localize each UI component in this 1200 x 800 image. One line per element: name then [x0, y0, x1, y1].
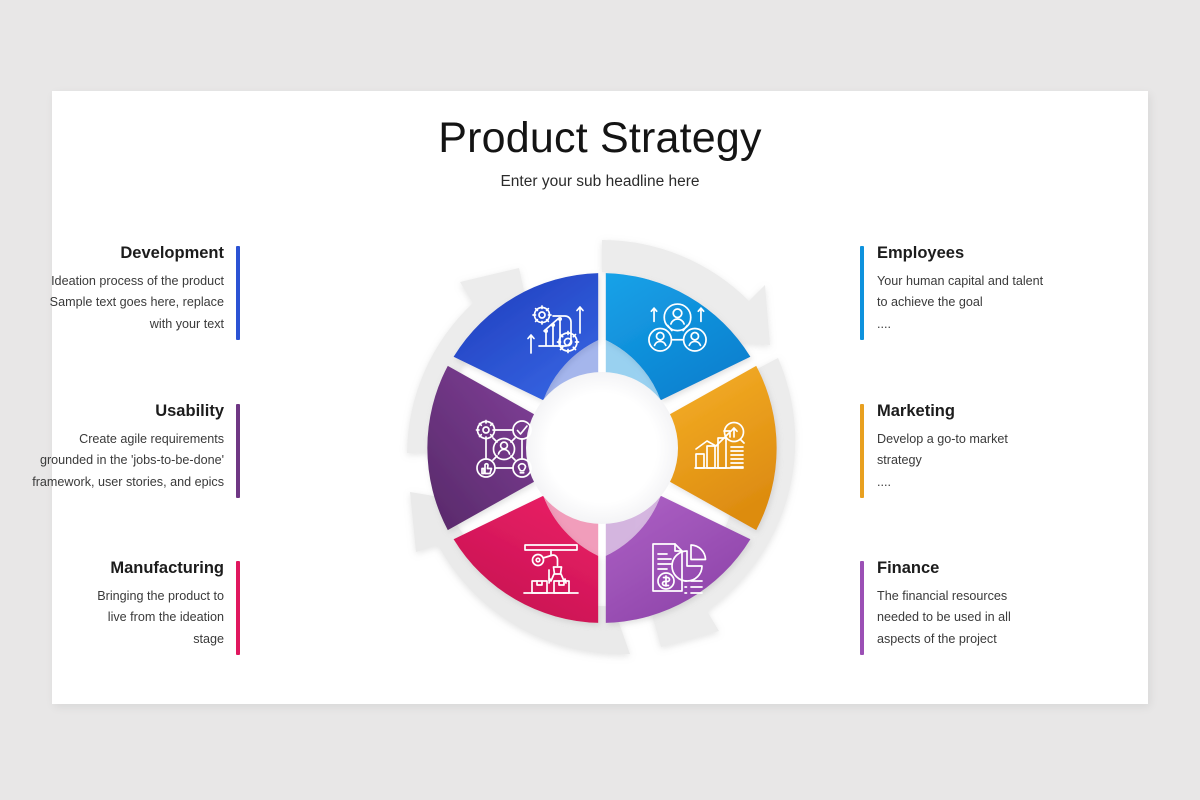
legend-line: framework, user stories, and epics — [10, 472, 224, 494]
segment-marketing[interactable] — [669, 366, 776, 530]
legend-line: Your human capital and talent — [877, 271, 1090, 293]
legend-line: Create agile requirements — [10, 429, 224, 451]
legend-line: Bringing the product to — [10, 586, 224, 608]
legend-line: Ideation process of the product — [10, 271, 224, 293]
legend-line: live from the ideation — [10, 607, 224, 629]
legend-line: Sample text goes here, replace — [10, 292, 224, 314]
accent-bar-manufacturing — [236, 561, 240, 655]
accent-bar-marketing — [860, 404, 864, 498]
legend-line: strategy — [877, 450, 1090, 472]
page-title: Product Strategy — [52, 114, 1148, 163]
cycle-diagram — [377, 223, 827, 673]
legend-line: .... — [877, 472, 1090, 494]
legend-title-marketing: Marketing — [877, 402, 1090, 422]
slide-canvas: Product Strategy Enter your sub headline… — [52, 91, 1148, 704]
legend-item-marketing[interactable]: Marketing Develop a go-to market strateg… — [860, 402, 1090, 494]
page-subtitle: Enter your sub headline here — [52, 173, 1148, 191]
legend-title-development: Development — [10, 244, 224, 264]
legend-line: with your text — [10, 314, 224, 336]
legend-title-finance: Finance — [877, 559, 1090, 579]
legend-line: aspects of the project — [877, 629, 1090, 651]
legend-line: grounded in the 'jobs-to-be-done' — [10, 450, 224, 472]
legend-item-finance[interactable]: Finance The financial resources needed t… — [860, 559, 1090, 651]
legend-line: .... — [877, 314, 1090, 336]
accent-bar-development — [236, 246, 240, 340]
legend-item-manufacturing[interactable]: Manufacturing Bringing the product to li… — [10, 559, 240, 651]
accent-bar-usability — [236, 404, 240, 498]
legend-line: to achieve the goal — [877, 292, 1090, 314]
wheel-hub — [526, 372, 678, 524]
legend-item-employees[interactable]: Employees Your human capital and talent … — [860, 244, 1090, 336]
legend-title-manufacturing: Manufacturing — [10, 559, 224, 579]
legend-title-employees: Employees — [877, 244, 1090, 264]
legend-line: The financial resources — [877, 586, 1090, 608]
segment-usability[interactable] — [427, 366, 534, 530]
accent-bar-employees — [860, 246, 864, 340]
legend-title-usability: Usability — [10, 402, 224, 422]
legend-line: needed to be used in all — [877, 607, 1090, 629]
legend-item-development[interactable]: Development Ideation process of the prod… — [10, 244, 240, 336]
legend-line: stage — [10, 629, 224, 651]
legend-item-usability[interactable]: Usability Create agile requirements grou… — [10, 402, 240, 494]
legend-line: Develop a go-to market — [877, 429, 1090, 451]
accent-bar-finance — [860, 561, 864, 655]
